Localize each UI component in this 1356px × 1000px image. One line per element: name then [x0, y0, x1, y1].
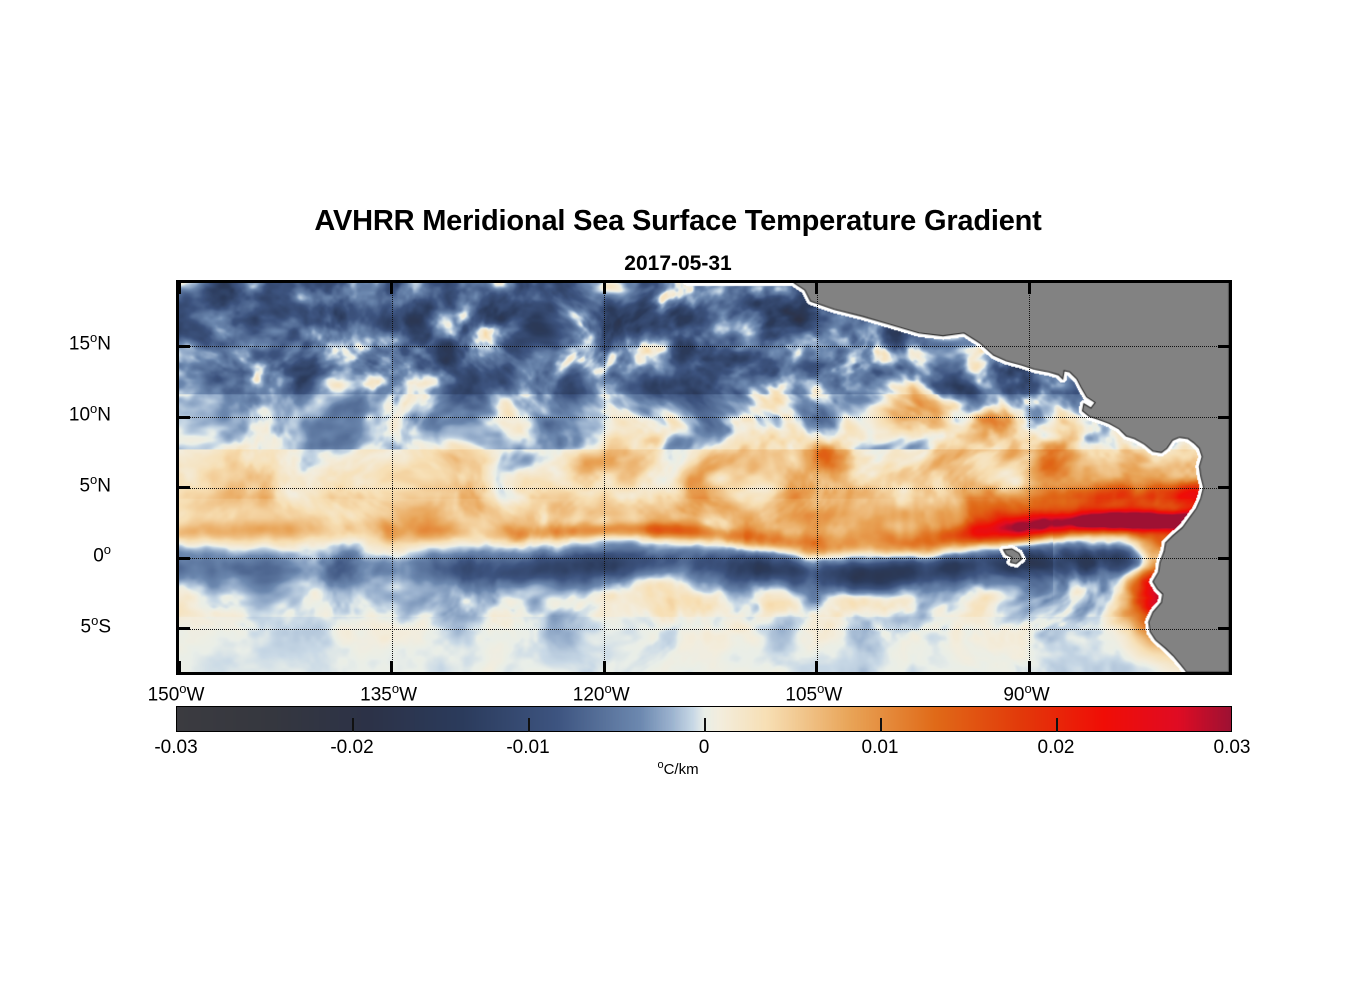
figure-root: AVHRR Meridional Sea Surface Temperature…	[0, 0, 1356, 1000]
colorbar-label-0.03: 0.03	[1152, 737, 1312, 759]
colorbar-tick-0.01	[880, 718, 882, 732]
y-tick-right	[1218, 557, 1229, 560]
x-axis-label-90°W: 90oW	[956, 681, 1096, 706]
colorbar-label-0.01: 0.01	[800, 737, 960, 759]
sst-gradient-heatmap	[179, 283, 1229, 672]
colorbar-label--0.01: -0.01	[448, 737, 608, 759]
x-tick-top	[390, 283, 393, 294]
colorbar-tick-0.02	[1056, 718, 1058, 732]
x-tick-bottom	[178, 661, 181, 672]
x-tick-top	[603, 283, 606, 294]
y-tick-right	[1218, 627, 1229, 630]
colorbar-unit-label: oC/km	[0, 759, 1356, 778]
x-axis-label-150°W: 150oW	[106, 681, 246, 706]
x-tick-top	[815, 283, 818, 294]
y-axis-label-10°N: 10oN	[0, 401, 111, 426]
map-axes	[176, 280, 1232, 675]
y-tick-right	[1218, 416, 1229, 419]
y-tick-left	[179, 345, 190, 348]
x-tick-bottom	[603, 661, 606, 672]
y-axis-label-5°S: 5oS	[0, 613, 111, 638]
colorbar-tick--0.02	[352, 718, 354, 732]
figure-subtitle: 2017-05-31	[0, 252, 1356, 276]
colorbar-label-0: 0	[624, 737, 784, 759]
x-tick-top	[1028, 283, 1031, 294]
x-tick-bottom	[815, 661, 818, 672]
x-axis-label-105°W: 105oW	[744, 681, 884, 706]
x-tick-bottom	[1028, 661, 1031, 672]
y-tick-left	[179, 557, 190, 560]
colorbar-tick-0	[704, 718, 706, 732]
x-tick-bottom	[390, 661, 393, 672]
y-axis-label-5°N: 5oN	[0, 472, 111, 497]
y-tick-left	[179, 627, 190, 630]
y-tick-right	[1218, 345, 1229, 348]
y-tick-left	[179, 416, 190, 419]
colorbar-label-0.02: 0.02	[976, 737, 1136, 759]
page-title: AVHRR Meridional Sea Surface Temperature…	[0, 205, 1356, 238]
y-tick-left	[179, 486, 190, 489]
y-axis-label-0°: 0o	[0, 542, 111, 567]
colorbar-label--0.02: -0.02	[272, 737, 432, 759]
colorbar-tick--0.01	[528, 718, 530, 732]
y-axis-label-15°N: 15oN	[0, 330, 111, 355]
x-axis-label-135°W: 135oW	[319, 681, 459, 706]
y-tick-right	[1218, 486, 1229, 489]
x-axis-label-120°W: 120oW	[531, 681, 671, 706]
colorbar-label--0.03: -0.03	[96, 737, 256, 759]
x-tick-top	[178, 283, 181, 294]
